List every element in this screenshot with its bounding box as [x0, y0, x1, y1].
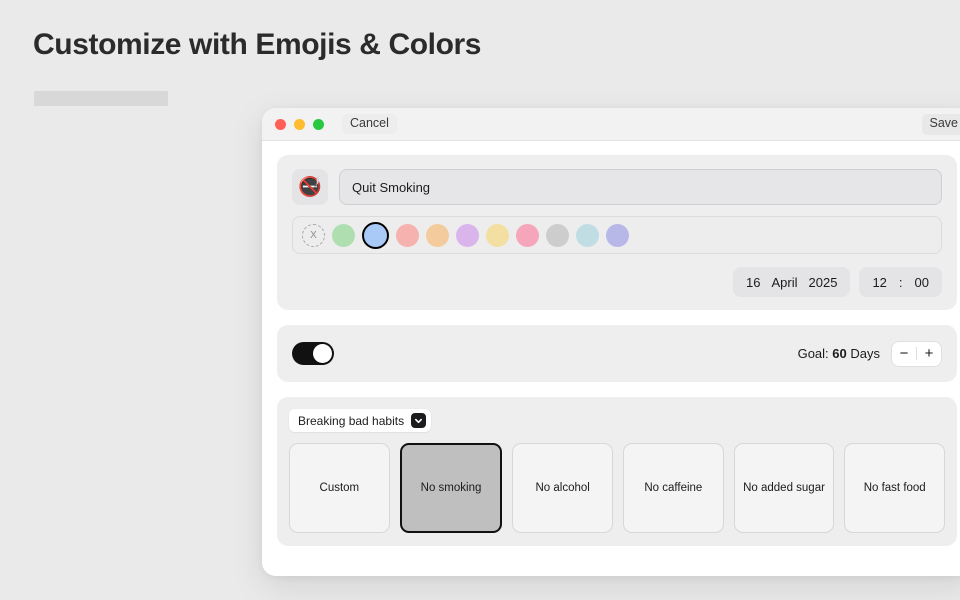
- template-card-no-added-sugar[interactable]: No added sugar: [734, 443, 835, 533]
- time-hour[interactable]: 12: [872, 275, 886, 290]
- color-swatch-green[interactable]: [332, 224, 355, 247]
- category-dropdown[interactable]: Breaking bad habits: [289, 409, 431, 432]
- goal-label-prefix: Goal:: [798, 346, 829, 361]
- datetime-row: 16 April 2025 12 : 00: [292, 267, 942, 297]
- cancel-button[interactable]: Cancel: [342, 114, 397, 135]
- date-month[interactable]: April: [772, 275, 798, 290]
- template-card-no-fast-food[interactable]: No fast food: [844, 443, 945, 533]
- color-swatch-yellow[interactable]: [486, 224, 509, 247]
- color-swatch-peach[interactable]: [426, 224, 449, 247]
- color-picker-strip: X: [292, 216, 942, 254]
- time-separator: :: [898, 275, 904, 290]
- save-button[interactable]: Save: [922, 114, 960, 135]
- template-grid: Custom No smoking No alcohol No caffeine…: [289, 443, 945, 533]
- minimize-window-button[interactable]: [294, 119, 305, 130]
- color-swatch-lilac[interactable]: [456, 224, 479, 247]
- goal-unit: Days: [850, 346, 880, 361]
- template-card-no-smoking[interactable]: No smoking: [400, 443, 503, 533]
- habit-name-row: 🚭: [292, 169, 942, 205]
- goal-decrement-button[interactable]: −: [892, 342, 916, 366]
- window-body: 🚭 X 16 April: [262, 141, 960, 576]
- color-swatch-none[interactable]: X: [302, 224, 325, 247]
- color-swatch-blue[interactable]: [362, 222, 389, 249]
- date-year[interactable]: 2025: [809, 275, 838, 290]
- goal-label: Goal: 60 Days: [798, 346, 880, 361]
- color-swatch-pink[interactable]: [516, 224, 539, 247]
- goal-card: Goal: 60 Days − +: [277, 325, 957, 382]
- goal-stepper: − +: [891, 341, 942, 367]
- habit-editor-window: Cancel Save 🚭 X: [262, 108, 960, 576]
- title-placeholder-bar: [34, 91, 168, 106]
- traffic-lights: [275, 119, 324, 130]
- page-title: Customize with Emojis & Colors: [33, 28, 481, 62]
- goal-controls: Goal: 60 Days − +: [798, 341, 942, 367]
- color-none-glyph: X: [310, 230, 317, 241]
- close-window-button[interactable]: [275, 119, 286, 130]
- goal-toggle[interactable]: [292, 342, 334, 365]
- window-toolbar: Cancel Save: [262, 108, 960, 141]
- time-picker[interactable]: 12 : 00: [859, 267, 942, 297]
- template-card-no-alcohol[interactable]: No alcohol: [512, 443, 613, 533]
- habit-details-card: 🚭 X 16 April: [277, 155, 957, 310]
- color-swatch-periwinkle[interactable]: [606, 224, 629, 247]
- goal-increment-button[interactable]: +: [917, 342, 941, 366]
- date-picker[interactable]: 16 April 2025: [733, 267, 850, 297]
- color-swatch-gray[interactable]: [546, 224, 569, 247]
- goal-value: 60: [832, 346, 846, 361]
- goal-toggle-knob: [313, 344, 332, 363]
- habit-name-input[interactable]: [339, 169, 942, 205]
- chevron-down-icon: [411, 413, 426, 428]
- date-day[interactable]: 16: [746, 275, 760, 290]
- color-swatch-light-blue[interactable]: [576, 224, 599, 247]
- color-swatch-salmon[interactable]: [396, 224, 419, 247]
- template-card-custom[interactable]: Custom: [289, 443, 390, 533]
- time-minute[interactable]: 00: [915, 275, 929, 290]
- template-card-no-caffeine[interactable]: No caffeine: [623, 443, 724, 533]
- category-dropdown-label: Breaking bad habits: [298, 414, 404, 428]
- emoji-picker-button[interactable]: 🚭: [292, 169, 328, 205]
- templates-card: Breaking bad habits Custom No smoking No…: [277, 397, 957, 546]
- maximize-window-button[interactable]: [313, 119, 324, 130]
